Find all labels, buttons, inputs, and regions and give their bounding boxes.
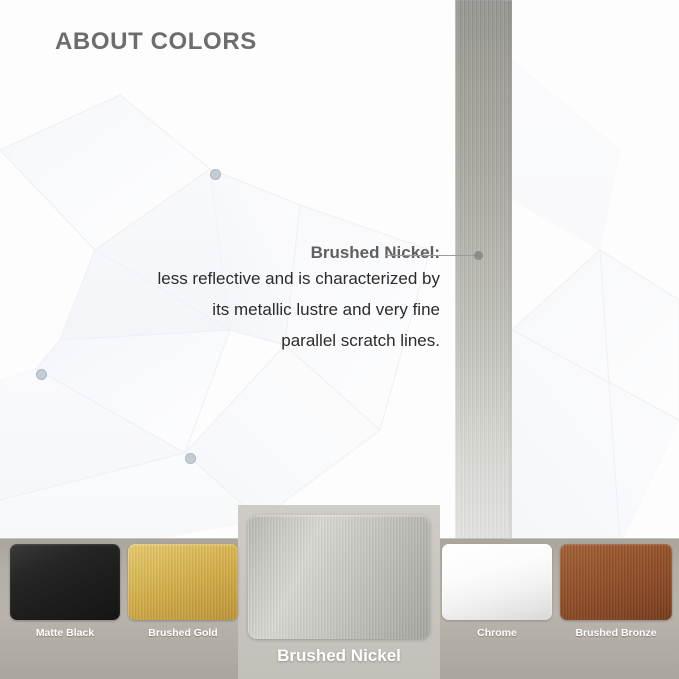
callout-heading: Brushed Nickel:: [40, 243, 440, 263]
decor-dot: [36, 369, 47, 380]
swatch-label-brushed-nickel: Brushed Nickel: [248, 646, 430, 666]
leader-endpoint-dot: [474, 251, 483, 260]
leader-line: [385, 255, 477, 256]
about-colors-graphic: ABOUT COLORS Brushed Nickel: less reflec…: [0, 0, 679, 679]
callout-line-1: less reflective and is characterized by: [40, 263, 440, 294]
swatch-brushed-bronze[interactable]: [560, 544, 672, 620]
swatch-brushed-nickel[interactable]: [248, 515, 430, 639]
callout-line-3: parallel scratch lines.: [40, 325, 440, 356]
decor-dot: [185, 453, 196, 464]
swatch-label-brushed-gold: Brushed Gold: [128, 627, 238, 639]
swatch-label-matte-black: Matte Black: [10, 627, 120, 639]
swatch-brushed-gold[interactable]: [128, 544, 238, 620]
swatch-label-chrome: Chrome: [442, 627, 552, 639]
swatch-matte-black[interactable]: [10, 544, 120, 620]
decor-dot: [210, 169, 221, 180]
swatch-chrome[interactable]: [442, 544, 552, 620]
callout-text-block: Brushed Nickel: less reflective and is c…: [40, 243, 440, 356]
swatch-label-brushed-bronze: Brushed Bronze: [556, 627, 676, 639]
brushed-nickel-strip: [455, 0, 512, 540]
page-title: ABOUT COLORS: [55, 28, 257, 56]
callout-line-2: its metallic lustre and very fine: [40, 294, 440, 325]
callout-label: Brushed Nickel:: [311, 243, 440, 263]
